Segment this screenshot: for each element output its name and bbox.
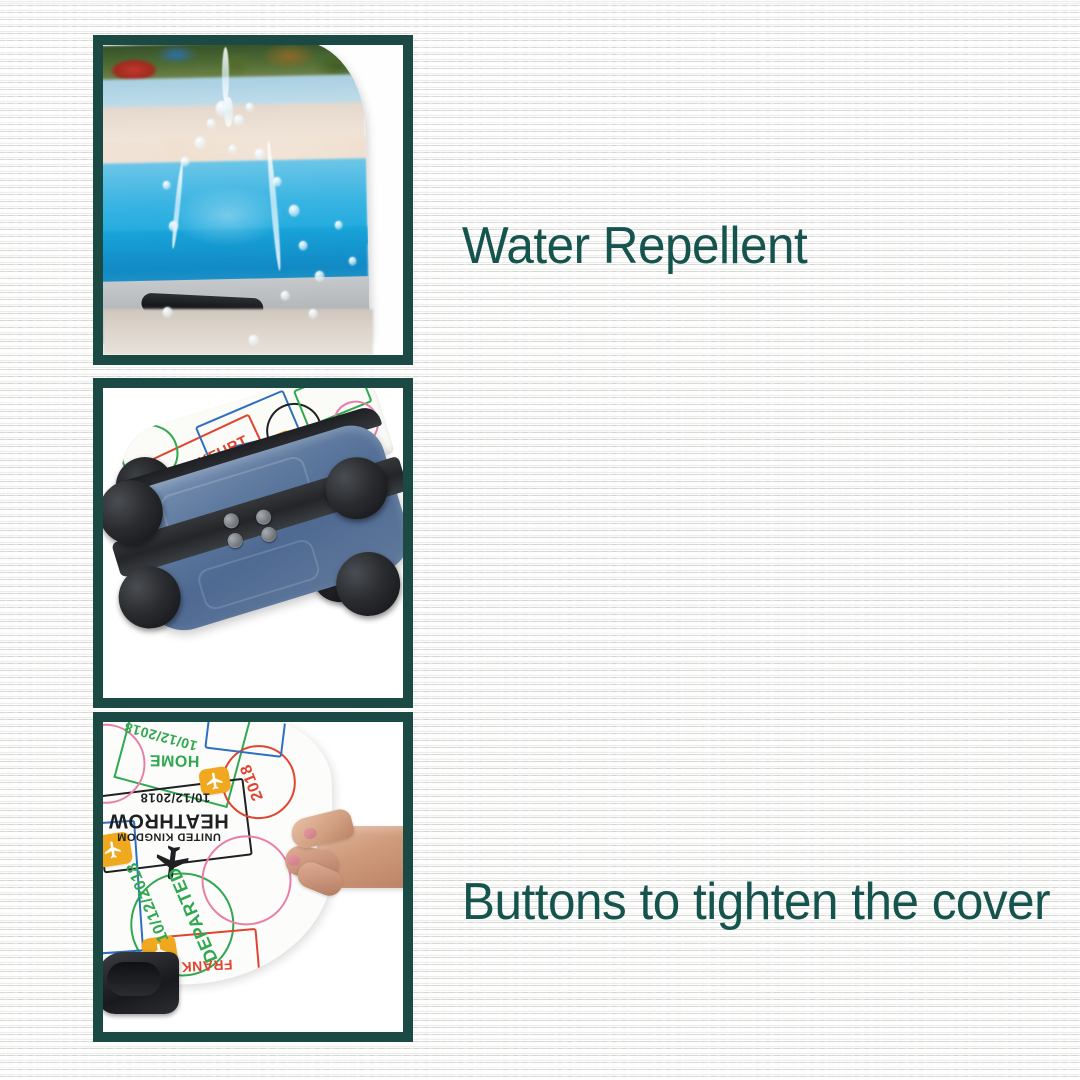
buttons-photo-frame: FRANKFURT 2018 SEP — [93, 378, 413, 708]
water-droplet — [246, 103, 253, 111]
stamp-label-united-kingdom: UNITED KINGDOM — [117, 831, 221, 843]
water-droplet — [299, 241, 307, 250]
fingernail — [287, 855, 300, 866]
stamp-label-frank: FRANK — [181, 957, 233, 976]
water-droplet — [229, 145, 236, 153]
water-droplet — [349, 257, 356, 265]
water-droplet — [207, 119, 215, 128]
feature-row-water-repellent: Water Repellent — [0, 35, 1080, 365]
water-droplet — [234, 115, 243, 125]
feature-row-buttons: FRANKFURT 2018 SEP — [0, 378, 1080, 708]
water-droplet — [289, 205, 299, 216]
hand-pulling-cover — [279, 808, 403, 918]
stamp-label-date: 10/12/2018 — [140, 791, 210, 806]
water-droplet — [335, 221, 342, 229]
water-stream — [222, 47, 229, 103]
caption-water-repellent: Water Repellent — [462, 219, 807, 274]
feature-row-stretch: HOME 10/12/2018 HEATHROW UNITED KINGDOM … — [0, 712, 1080, 1042]
feature-infographic: Water Repellent — [0, 0, 1080, 1080]
water-droplet — [216, 101, 229, 116]
water-droplet — [315, 271, 324, 281]
water-repellent-photo — [103, 45, 403, 355]
watercolor-beach-scene — [103, 45, 370, 346]
water-repellent-photo-frame — [93, 35, 413, 365]
water-droplet — [163, 181, 170, 189]
buttons-photo: FRANKFURT 2018 SEP — [103, 388, 403, 698]
sea-highlight — [147, 171, 310, 260]
water-droplet — [163, 307, 172, 317]
suitcase-wheel-block — [103, 952, 179, 1014]
table-surface — [103, 309, 373, 355]
water-droplet — [281, 291, 289, 300]
suitcase-underside: FRANKFURT 2018 SEP — [103, 388, 403, 689]
water-droplet — [309, 309, 317, 318]
stamp-label-heathrow: HEATHROW — [108, 809, 228, 832]
water-droplet — [255, 149, 264, 159]
stretch-photo-frame: HOME 10/12/2018 HEATHROW UNITED KINGDOM … — [93, 712, 413, 1042]
water-droplet — [195, 137, 205, 148]
stretch-photo: HOME 10/12/2018 HEATHROW UNITED KINGDOM … — [103, 722, 403, 1032]
fingernail — [303, 827, 318, 841]
water-droplet — [249, 335, 258, 345]
covered-suitcase-beach-print — [103, 45, 370, 346]
